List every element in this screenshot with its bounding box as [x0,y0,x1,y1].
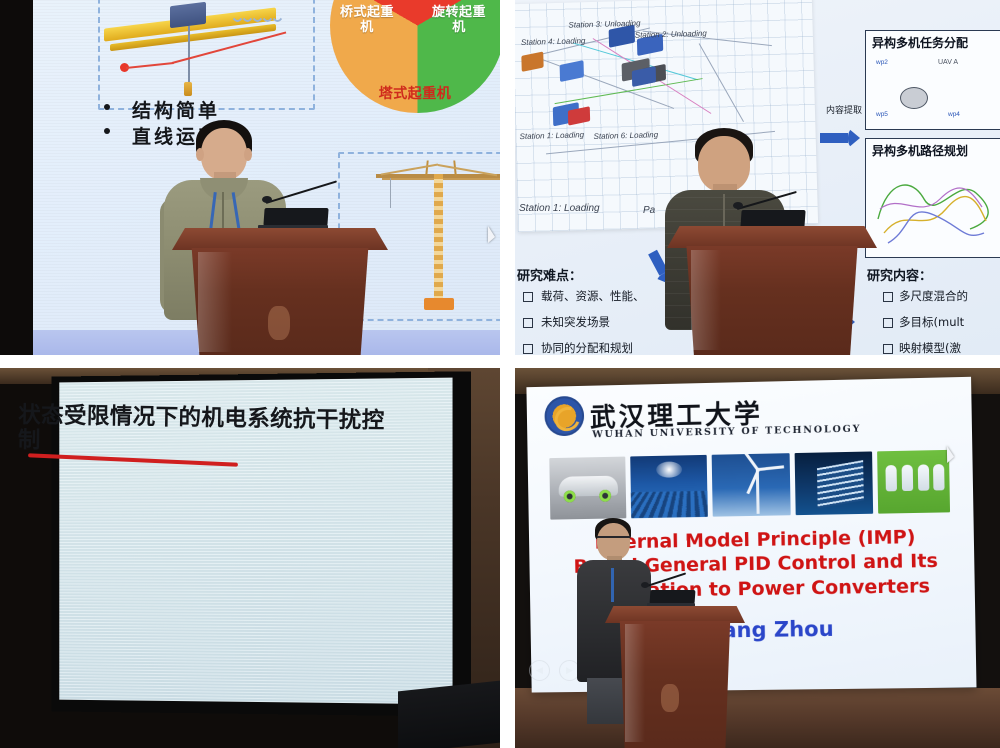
column-heading-difficulties: 研究难点： [517,265,582,284]
podium [172,228,388,355]
photo-panel-top-right[interactable]: Station 1: Loading Station 6: Loading St… [515,0,1000,355]
auditorium-scene: 武汉理工大学 WUHAN UNIVERSITY OF TECHNOLOGY [515,368,1000,748]
strip-cfl-bulbs [877,450,950,514]
wuhan-university-logo-icon [544,396,584,437]
blue-arrow-right-1 [820,128,860,148]
diagram-box-path-planning: 异构多机路径规划 [865,138,1000,258]
photo-collage: 桥式起重机 旋转起重机 塔式起重机 结构简单 直线运动 [0,0,1000,748]
bullet-text-1: 结构简单 [132,96,220,123]
tower-crane-illustration [376,158,500,316]
uav-label: UAV A [938,59,958,66]
podium [667,226,877,355]
pie-label-tower-crane: 塔式起重机 [372,86,458,102]
difficulty-item-1: 载荷、资源、性能、 [541,288,645,304]
content-extraction-label: 内容提取 [826,106,862,117]
content-item-1: 多尺度混合的 [899,288,968,304]
photo-panel-bottom-left[interactable]: 状态受限情况下的机电系统抗干扰控制 化学院 msc [0,368,500,748]
path-planning-curves [866,159,1000,255]
photo-panel-top-left[interactable]: 桥式起重机 旋转起重机 塔式起重机 结构简单 直线运动 [0,0,500,355]
stage-speaker [398,681,500,748]
station-label-1: Station 1: Loading [519,130,584,141]
diagram-box-title-2: 异构多机路径规划 [872,142,968,159]
station-1-loading-label: Station 1: Loading [519,203,600,214]
podium [605,606,745,748]
waypoint-label-wp4: wp4 [948,111,960,118]
station-partial-label: Pa [643,205,655,216]
waypoint-label-wp2: wp2 [876,59,888,66]
lecture-scene: Station 1: Loading Station 6: Loading St… [515,0,1000,355]
strip-solar-panels [630,455,708,518]
photo-panel-bottom-right[interactable]: 武汉理工大学 WUHAN UNIVERSITY OF TECHNOLOGY [515,368,1000,748]
lecture-scene: 桥式起重机 旋转起重机 塔式起重机 结构简单 直线运动 [0,0,500,355]
waypoint-label-wp5: wp5 [876,111,888,118]
bullet-dot-1 [104,104,110,110]
slide-title: 状态受限情况下的机电系统抗干扰控制 [18,403,389,458]
diagram-box-task-allocation: 异构多机任务分配 wp2 UAV A wp5 wp4 [865,30,1000,130]
pie-label-rotating-crane: 旋转起重机 [428,6,490,36]
gantry-crane-illustration [104,0,284,62]
diagram-box-title-1: 异构多机任务分配 [872,34,968,51]
strip-wind-turbines [712,453,790,516]
strip-electric-car [549,457,626,520]
content-item-2: 多目标(mult [899,314,964,330]
strip-data-center [794,451,873,515]
content-item-3: 映射模型(激 [899,340,961,355]
prev-slide-button[interactable]: ◀ [529,660,550,681]
station-label-6: Station 6: Loading [593,130,658,141]
station-label-4: Station 4: Loading [521,36,586,47]
bullet-dot-2 [104,128,110,134]
difficulty-item-2: 未知突发场景 [541,314,610,330]
dark-wall [0,0,33,355]
difficulty-item-3: 协同的分配和规划 [541,340,633,355]
pie-label-bridge-crane: 桥式起重机 [336,6,398,36]
image-strip [549,450,950,520]
